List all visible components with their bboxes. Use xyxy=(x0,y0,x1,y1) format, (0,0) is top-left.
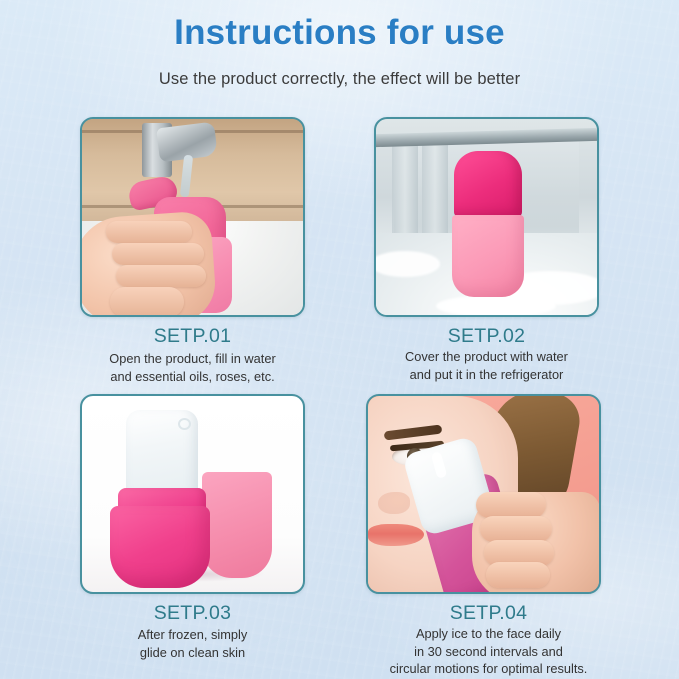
page-header: Instructions for use Use the product cor… xyxy=(0,0,679,89)
step-2-label: SETP.02 xyxy=(374,325,599,347)
nose xyxy=(378,492,410,514)
step-3-photo xyxy=(80,394,305,594)
step-1-photo xyxy=(80,117,305,317)
step-card-3: SETP.03 After frozen, simply glide on cl… xyxy=(80,394,305,661)
finger xyxy=(116,265,206,287)
second-product-cup xyxy=(202,472,272,578)
step-1-caption: SETP.01 Open the product, fill in water … xyxy=(80,325,305,385)
main-product-cup xyxy=(110,506,210,588)
page-subtitle: Use the product correctly, the effect wi… xyxy=(0,70,679,89)
step-card-1: SETP.01 Open the product, fill in water … xyxy=(80,117,305,385)
finger xyxy=(112,243,204,265)
step-1-text: Open the product, fill in water and esse… xyxy=(80,350,305,384)
freezer-wall-ridge xyxy=(392,145,418,241)
frost-lump xyxy=(436,295,556,317)
step-2-text: Cover the product with water and put it … xyxy=(374,348,599,382)
step-2-caption: SETP.02 Cover the product with water and… xyxy=(374,325,599,383)
product-base xyxy=(452,215,524,297)
step-4-text: Apply ice to the face daily in 30 second… xyxy=(366,625,611,676)
finger xyxy=(106,221,192,243)
step-1-label: SETP.01 xyxy=(80,325,305,347)
ice-block-hole xyxy=(178,418,191,430)
step-4-photo xyxy=(366,394,601,594)
step-3-label: SETP.03 xyxy=(80,602,305,624)
finger xyxy=(476,492,546,518)
freezer-wall-ridge xyxy=(422,145,448,241)
step-card-2: SETP.02 Cover the product with water and… xyxy=(374,117,599,383)
step-2-photo xyxy=(374,117,599,317)
finger xyxy=(480,516,552,542)
steps-row-2: SETP.03 After frozen, simply glide on cl… xyxy=(0,394,679,671)
step-card-4: SETP.04 Apply ice to the face daily in 3… xyxy=(366,394,611,677)
steps-grid: SETP.01 Open the product, fill in water … xyxy=(0,117,679,671)
step-4-caption: SETP.04 Apply ice to the face daily in 3… xyxy=(366,602,611,677)
finger xyxy=(486,562,550,588)
steps-row-1: SETP.01 Open the product, fill in water … xyxy=(0,117,679,394)
step-3-caption: SETP.03 After frozen, simply glide on cl… xyxy=(80,602,305,661)
page-title: Instructions for use xyxy=(0,13,679,53)
product-cap xyxy=(454,151,522,217)
step-4-label: SETP.04 xyxy=(366,602,611,624)
step-3-text: After frozen, simply glide on clean skin xyxy=(80,626,305,660)
thumb xyxy=(110,287,184,317)
